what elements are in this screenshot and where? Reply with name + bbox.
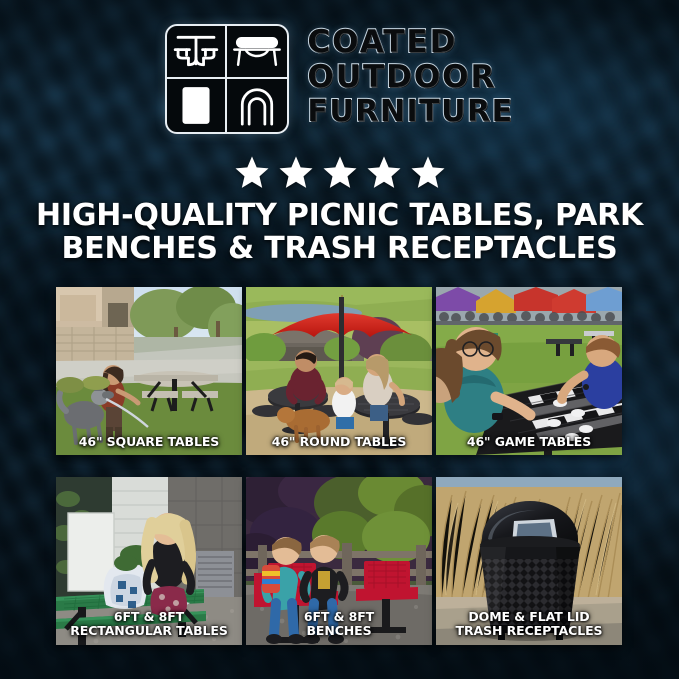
tile-caption: DOME & FLAT LID TRASH RECEPTACLES [436, 610, 622, 638]
tile-caption: 46" GAME TABLES [436, 435, 622, 449]
product-tile-trash-receptacles[interactable]: DOME & FLAT LID TRASH RECEPTACLES [436, 477, 622, 645]
product-tile-benches[interactable]: 6FT & 8FT BENCHES [246, 477, 432, 645]
trash-receptacle-icon [167, 79, 227, 132]
product-tile-game-tables[interactable]: 46" GAME TABLES [436, 287, 622, 455]
headline: HIGH-QUALITY PICNIC TABLES, PARK BENCHES… [0, 199, 679, 265]
square-tables-photo [56, 287, 242, 455]
round-tables-photo [246, 287, 432, 455]
star-icon [278, 154, 314, 190]
wordmark-line-3: FURNITURE [307, 95, 513, 129]
tile-caption: 46" SQUARE TABLES [56, 435, 242, 449]
headline-line-2: BENCHES & TRASH RECEPTACLES [0, 232, 679, 265]
tile-caption-line-2: TRASH RECEPTACLES [440, 624, 618, 638]
star-rating [0, 154, 679, 190]
tile-caption-line-1: 46" ROUND TABLES [250, 435, 428, 449]
promo-banner: COATED OUTDOOR FURNITURE HIGH-QUALITY PI… [0, 0, 679, 679]
product-tile-rectangular-tables[interactable]: 6FT & 8FT RECTANGULAR TABLES [56, 477, 242, 645]
star-icon [410, 154, 446, 190]
star-icon [234, 154, 270, 190]
star-icon [366, 154, 402, 190]
game-tables-photo [436, 287, 622, 455]
tile-caption: 6FT & 8FT RECTANGULAR TABLES [56, 610, 242, 638]
wordmark-line-2: OUTDOOR [307, 60, 513, 94]
tile-caption-line-2: BENCHES [250, 624, 428, 638]
tile-caption: 6FT & 8FT BENCHES [246, 610, 432, 638]
tile-caption-line-1: 6FT & 8FT [250, 610, 428, 624]
brand-logo: COATED OUTDOOR FURNITURE [0, 24, 679, 134]
tile-caption-line-1: 46" GAME TABLES [440, 435, 618, 449]
product-tiles-grid: 46" SQUARE TABLES [56, 287, 622, 645]
star-icon [322, 154, 358, 190]
brand-wordmark: COATED OUTDOOR FURNITURE [307, 24, 513, 129]
wordmark-line-1: COATED [307, 25, 513, 59]
tile-caption-line-2: RECTANGULAR TABLES [60, 624, 238, 638]
product-tile-round-tables[interactable]: 46" ROUND TABLES [246, 287, 432, 455]
product-tile-square-tables[interactable]: 46" SQUARE TABLES [56, 287, 242, 455]
tile-caption-line-1: DOME & FLAT LID [440, 610, 618, 624]
tile-caption-line-1: 6FT & 8FT [60, 610, 238, 624]
picnic-table-icon [167, 26, 227, 79]
tile-caption: 46" ROUND TABLES [246, 435, 432, 449]
logo-icon-grid [165, 24, 289, 134]
bike-rack-icon [227, 79, 287, 132]
headline-line-1: HIGH-QUALITY PICNIC TABLES, PARK [0, 199, 679, 232]
park-bench-icon [227, 26, 287, 79]
tile-caption-line-1: 46" SQUARE TABLES [60, 435, 238, 449]
